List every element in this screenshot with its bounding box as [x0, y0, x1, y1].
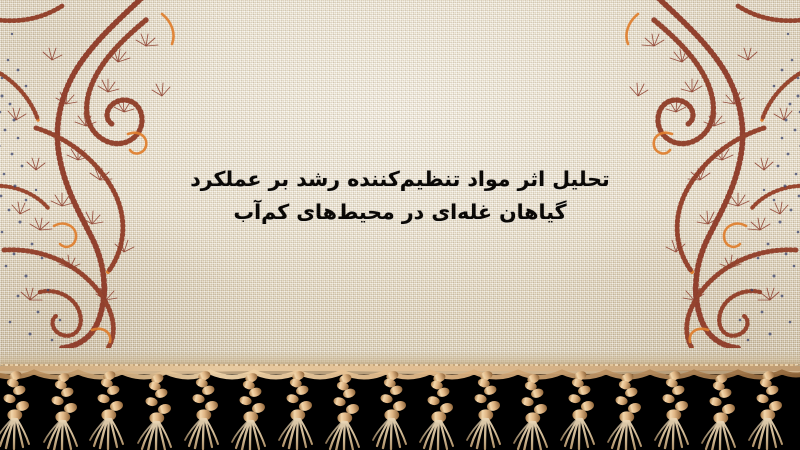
title-block: تحلیل اثر مواد تنظیم‌کننده رشد بر عملکرد…	[0, 163, 800, 229]
title-line-2: گیاهان غله‌ای در محیط‌های کم‌آب	[0, 196, 800, 229]
title-line-1: تحلیل اثر مواد تنظیم‌کننده رشد بر عملکرد	[0, 163, 800, 196]
tassel-fringe	[0, 366, 800, 450]
title-card-canvas: تحلیل اثر مواد تنظیم‌کننده رشد بر عملکرد…	[0, 0, 800, 450]
